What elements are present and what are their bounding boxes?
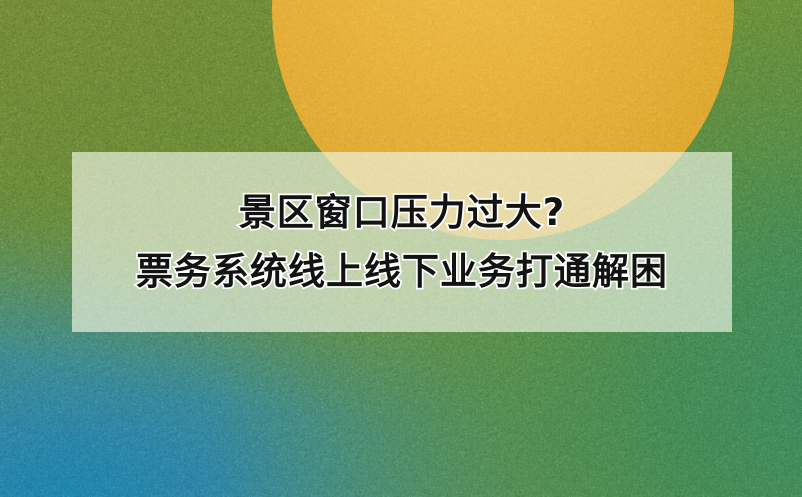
headline-line-1: 景区窗口压力过大? (239, 194, 565, 231)
headline-line-2: 票务系统线上线下业务打通解困 (136, 253, 668, 290)
poster-canvas: 景区窗口压力过大? 票务系统线上线下业务打通解困 (0, 0, 802, 497)
headline-block: 景区窗口压力过大? 票务系统线上线下业务打通解困 (72, 152, 732, 332)
